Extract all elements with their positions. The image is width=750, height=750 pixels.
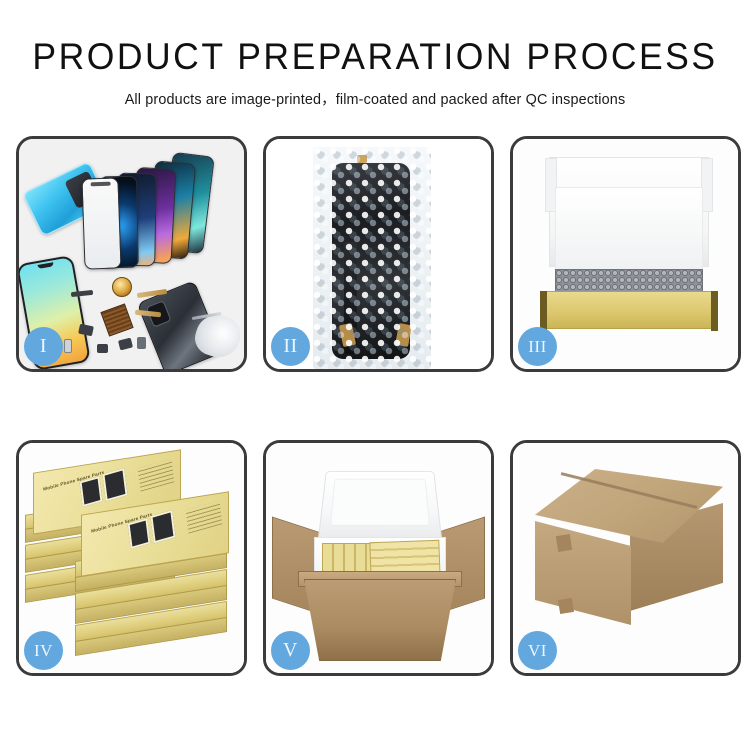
chip-grid-icon xyxy=(100,303,133,336)
component-small-icon xyxy=(97,344,108,353)
process-step-4: Mobile Phone Spare Parts Mobile Phone Sp… xyxy=(16,440,247,676)
carton-body xyxy=(304,579,456,661)
step-number-badge-5: V xyxy=(271,631,310,670)
phone-fan-group xyxy=(97,159,232,274)
product-preparation-infographic: PRODUCT PREPARATION PROCESS All products… xyxy=(0,0,750,750)
phone-white-front-icon xyxy=(81,177,121,269)
step-number-badge-2: II xyxy=(271,327,310,366)
component-battery-icon xyxy=(64,339,72,353)
bubble-highlight-texture xyxy=(313,147,431,369)
component-sim-tray-icon xyxy=(137,337,146,349)
carton-tab-lower xyxy=(558,598,574,614)
step-number-badge-3: III xyxy=(518,327,557,366)
carton-face-front xyxy=(535,521,631,625)
box-window-1a xyxy=(79,476,102,507)
box-spec-lines-2 xyxy=(186,501,223,534)
box-window-2a xyxy=(127,518,150,549)
step-number-badge-4: IV xyxy=(24,631,63,670)
box-window-1b xyxy=(102,468,127,501)
foam-box-lid xyxy=(318,471,443,542)
component-bar-icon xyxy=(71,290,93,297)
process-step-grid: I II xyxy=(16,136,736,676)
header: PRODUCT PREPARATION PROCESS All products… xyxy=(0,0,750,109)
process-step-3: III xyxy=(510,136,741,372)
carton-tab-upper xyxy=(556,534,572,552)
box-spec-lines-1 xyxy=(138,459,175,492)
box-window-2b xyxy=(150,510,175,543)
page-subtitle: All products are image-printed，film-coat… xyxy=(0,88,750,109)
process-step-2: II xyxy=(263,136,494,372)
copper-coil-icon xyxy=(112,277,132,297)
yellow-kraft-tray xyxy=(540,291,718,329)
process-step-5: V xyxy=(263,440,494,676)
bubble-wrap-bag xyxy=(313,147,431,369)
process-step-6: VI xyxy=(510,440,741,676)
process-step-1: I xyxy=(16,136,247,372)
step-number-badge-1: I xyxy=(24,327,63,366)
step-number-badge-6: VI xyxy=(518,631,557,670)
page-title: PRODUCT PREPARATION PROCESS xyxy=(15,38,735,77)
component-speaker-icon xyxy=(118,338,133,351)
foam-sheet xyxy=(555,187,703,271)
